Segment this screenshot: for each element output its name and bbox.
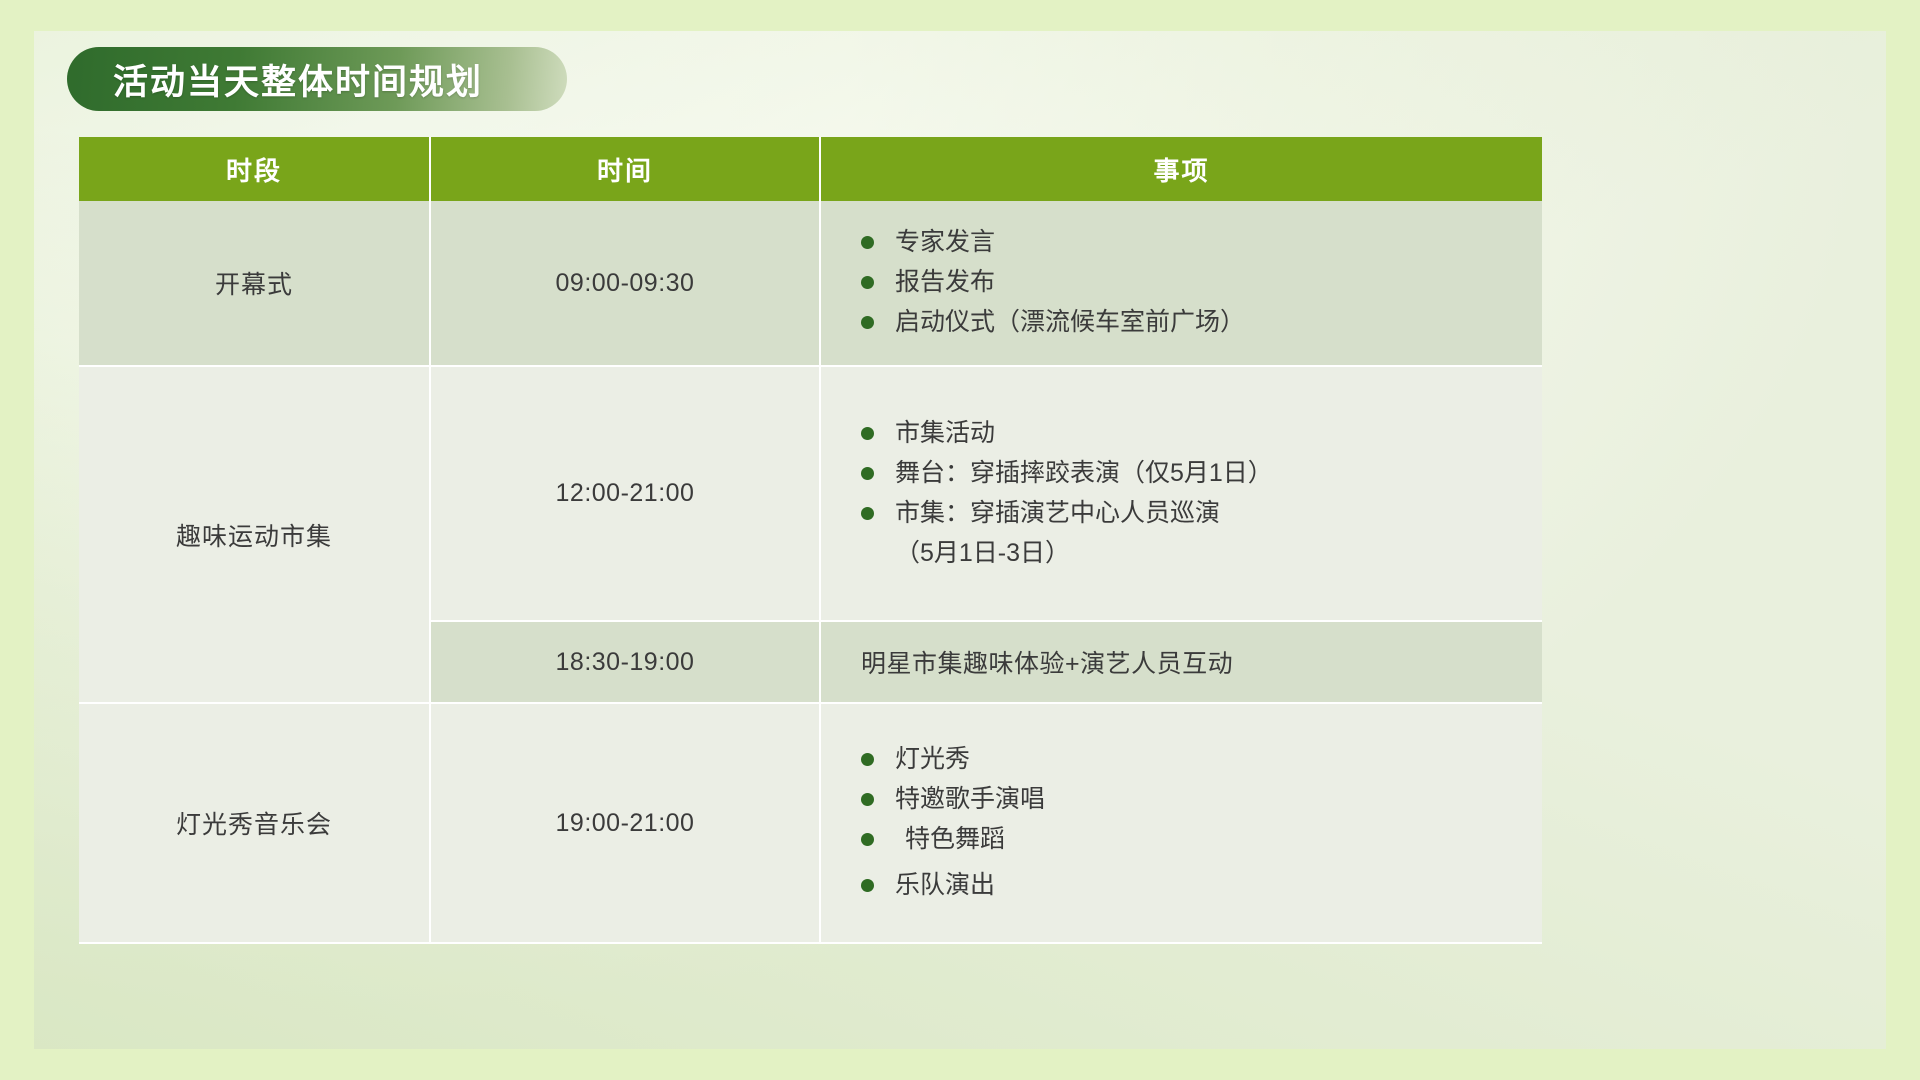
cell-time: 19:00-21:00: [431, 704, 821, 944]
slide-root: 活动当天整体时间规划 时段 时间 事项 开幕式 09:00-09:: [0, 0, 1920, 1080]
page-title: 活动当天整体时间规划: [113, 54, 483, 105]
list-item: 市集：穿插演艺中心人员巡演: [855, 494, 1518, 532]
cell-phase: 开幕式: [79, 201, 431, 367]
table-header-row: 时段 时间 事项: [79, 137, 1542, 201]
cell-phase: 灯光秀音乐会: [79, 704, 431, 944]
schedule-table: 时段 时间 事项 开幕式 09:00-09:30 专家发言 报告发布 启动仪式（…: [79, 137, 1542, 944]
list-item: 启动仪式（漂流候车室前广场）: [855, 303, 1518, 341]
item-text: 明星市集趣味体验+演艺人员互动: [855, 644, 1518, 680]
table-row: 开幕式 09:00-09:30 专家发言 报告发布 启动仪式（漂流候车室前广场）: [79, 201, 1542, 367]
cell-phase: 趣味运动市集: [79, 367, 431, 704]
column-header-time: 时间: [431, 137, 821, 201]
table-row: 趣味运动市集 12:00-21:00 市集活动 舞台：穿插摔跤表演（仅5月1日）…: [79, 367, 1542, 622]
section-title-pill: 活动当天整体时间规划: [67, 47, 567, 111]
cell-items: 专家发言 报告发布 启动仪式（漂流候车室前广场）: [821, 201, 1542, 367]
cell-items: 明星市集趣味体验+演艺人员互动: [821, 622, 1542, 704]
list-item: 专家发言: [855, 223, 1518, 261]
list-item: 特色舞蹈: [855, 820, 1518, 858]
table-body: 开幕式 09:00-09:30 专家发言 报告发布 启动仪式（漂流候车室前广场）…: [79, 201, 1542, 944]
list-item: 舞台：穿插摔跤表演（仅5月1日）: [855, 454, 1518, 492]
column-header-phase: 时段: [79, 137, 431, 201]
list-item: 报告发布: [855, 263, 1518, 301]
list-item: 特邀歌手演唱: [855, 780, 1518, 818]
cell-items: 市集活动 舞台：穿插摔跤表演（仅5月1日） 市集：穿插演艺中心人员巡演 （5月1…: [821, 367, 1542, 622]
cell-time: 18:30-19:00: [431, 622, 821, 704]
cell-items: 灯光秀 特邀歌手演唱 特色舞蹈 乐队演出: [821, 704, 1542, 944]
list-item: 市集活动: [855, 414, 1518, 452]
item-list: 灯光秀 特邀歌手演唱 特色舞蹈 乐队演出: [855, 740, 1518, 904]
column-header-items: 事项: [821, 137, 1542, 201]
table-row: 灯光秀音乐会 19:00-21:00 灯光秀 特邀歌手演唱 特色舞蹈 乐队演出: [79, 704, 1542, 944]
cell-time: 12:00-21:00: [431, 367, 821, 622]
item-list: 专家发言 报告发布 启动仪式（漂流候车室前广场）: [855, 223, 1518, 341]
list-item-continuation: （5月1日-3日）: [855, 534, 1518, 572]
table-header: 时段 时间 事项: [79, 137, 1542, 201]
cell-time: 09:00-09:30: [431, 201, 821, 367]
list-item: 灯光秀: [855, 740, 1518, 778]
item-list: 市集活动 舞台：穿插摔跤表演（仅5月1日） 市集：穿插演艺中心人员巡演 （5月1…: [855, 414, 1518, 572]
list-item: 乐队演出: [855, 866, 1518, 904]
slide-content: 活动当天整体时间规划 时段 时间 事项 开幕式 09:00-09:: [34, 31, 1886, 1049]
